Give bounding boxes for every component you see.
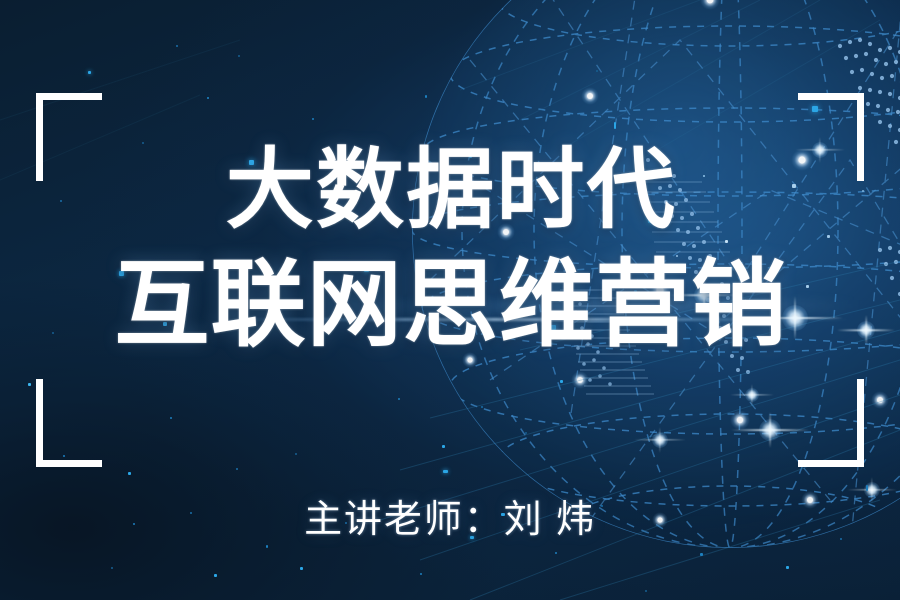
title-line-2: 互联网思维营销 [0, 258, 900, 353]
presenter-subtitle: 主讲老师：刘 炜 [0, 500, 900, 542]
title-line-1: 大数据时代 [0, 146, 900, 234]
slide-content: 大数据时代 互联网思维营销 主讲老师：刘 炜 [0, 0, 900, 600]
title-slide: 大数据时代 互联网思维营销 主讲老师：刘 炜 [0, 0, 900, 600]
page-title: 大数据时代 互联网思维营销 [0, 146, 900, 353]
